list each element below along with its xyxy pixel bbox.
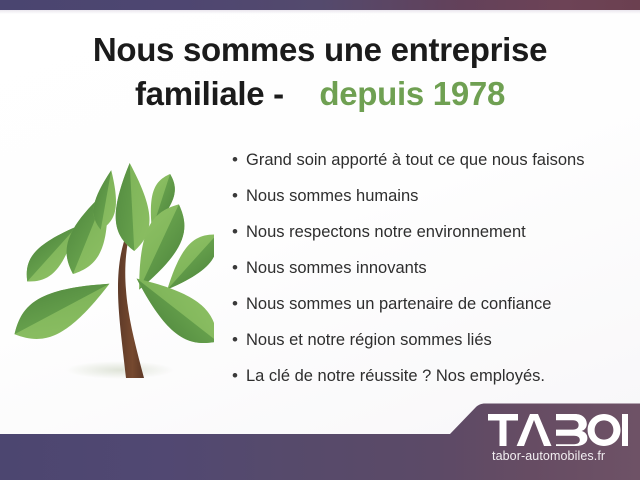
top-accent-bar-fade [0,10,640,14]
bullet-icon: • [232,364,246,388]
bullet-icon: • [232,220,246,244]
list-item-label: Grand soin apporté à tout ce que nous fa… [246,148,584,172]
bullet-icon: • [232,328,246,352]
tree-shadow [66,361,174,379]
list-item-label: Nous et notre région sommes liés [246,328,492,352]
brand-website[interactable]: tabor-automobiles.fr [488,449,628,463]
headline-line-1: Nous sommes une entreprise [0,28,640,72]
page-title: Nous sommes une entreprise familiale - d… [0,28,640,116]
list-item: • Nous respectons notre environnement [232,220,632,256]
bullet-icon: • [232,148,246,172]
slide-canvas: Nous sommes une entreprise familiale - d… [0,0,640,480]
bullet-icon: • [232,184,246,208]
benefits-list: • Grand soin apporté à tout ce que nous … [232,148,632,400]
footer-bar-left [0,434,465,480]
brand-logo[interactable]: tabor-automobiles.fr [488,414,628,463]
headline-line-2: familiale - depuis 1978 [0,72,640,116]
list-item: • Grand soin apporté à tout ce que nous … [232,148,632,184]
list-item: • La clé de notre réussite ? Nos employé… [232,364,632,400]
tree-illustration [14,142,214,387]
list-item-label: Nous sommes un partenaire de confiance [246,292,551,316]
list-item-label: Nous sommes innovants [246,256,427,280]
top-accent-bar [0,0,640,10]
headline-accent-since-1978: depuis 1978 [319,75,505,112]
list-item: • Nous sommes un partenaire de confiance [232,292,632,328]
list-item: • Nous et notre région sommes liés [232,328,632,364]
tree-leaves [14,162,214,356]
list-item: • Nous sommes innovants [232,256,632,292]
list-item-label: Nous respectons notre environnement [246,220,526,244]
brand-wordmark [488,414,628,446]
bullet-icon: • [232,292,246,316]
list-item-label: La clé de notre réussite ? Nos employés. [246,364,545,388]
headline-line-2-black: familiale - [135,75,284,112]
list-item-label: Nous sommes humains [246,184,418,208]
bullet-icon: • [232,256,246,280]
list-item: • Nous sommes humains [232,184,632,220]
